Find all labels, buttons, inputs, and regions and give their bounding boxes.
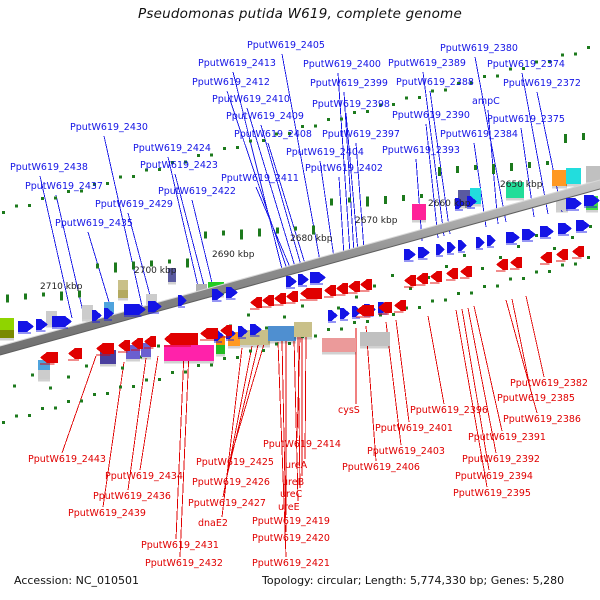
gene-feature-shadow bbox=[164, 345, 191, 347]
gene-feature-shadow bbox=[460, 277, 470, 279]
gene-feature-shadow bbox=[418, 258, 428, 260]
sequence-tick bbox=[121, 366, 124, 369]
boundary-dot bbox=[574, 53, 577, 56]
forward-gene-label[interactable]: PputW619_2374 bbox=[487, 60, 565, 70]
accession-text: Accession: NC_010501 bbox=[14, 574, 139, 587]
forward-gene-label[interactable]: PputW619_2411 bbox=[221, 174, 299, 184]
forward-gene-label[interactable]: PputW619_2430 bbox=[70, 123, 148, 133]
boundary-dot bbox=[483, 285, 486, 288]
reverse-gene-label[interactable]: PputW619_2434 bbox=[105, 472, 183, 482]
gene-feature[interactable] bbox=[68, 348, 82, 359]
gene-feature[interactable] bbox=[52, 316, 72, 327]
scale-tick-label: 2710 kbp bbox=[40, 282, 82, 292]
gene-feature-shadow bbox=[298, 285, 307, 287]
domain-box[interactable] bbox=[360, 332, 390, 346]
forward-gene-label[interactable]: PputW619_2397 bbox=[322, 130, 400, 140]
sequence-tick bbox=[222, 231, 225, 236]
gene-feature-shadow bbox=[250, 308, 260, 310]
boundary-dot bbox=[392, 313, 395, 316]
boundary-dot bbox=[574, 263, 577, 266]
gene-feature[interactable] bbox=[572, 246, 584, 257]
boundary-dot bbox=[119, 386, 122, 389]
boundary-dot bbox=[236, 146, 239, 149]
gene-feature-shadow bbox=[238, 337, 246, 339]
reverse-gene-label[interactable]: PputW619_2439 bbox=[68, 509, 146, 519]
forward-gene-label[interactable]: PputW619_2410 bbox=[212, 95, 290, 105]
sequence-tick bbox=[366, 197, 369, 207]
gene-feature-shadow bbox=[378, 313, 389, 315]
forward-gene-label[interactable]: PputW619_2393 bbox=[382, 146, 460, 156]
domain-box[interactable] bbox=[118, 290, 128, 298]
gene-feature[interactable] bbox=[556, 249, 568, 260]
sequence-tick bbox=[474, 165, 477, 170]
domain-box-shadow bbox=[118, 298, 128, 301]
gene-feature-shadow bbox=[226, 339, 234, 341]
leader-line bbox=[356, 143, 364, 250]
leader-line bbox=[522, 73, 548, 214]
gene-feature-shadow bbox=[124, 315, 142, 317]
sequence-tick bbox=[420, 194, 423, 198]
gene-feature[interactable] bbox=[446, 268, 458, 279]
reverse-gene-label[interactable]: ureB bbox=[282, 478, 304, 488]
boundary-dot bbox=[444, 299, 447, 302]
scale-tick-label: 2650 kbp bbox=[500, 180, 542, 190]
gene-feature-shadow bbox=[148, 312, 159, 314]
forward-gene-label[interactable]: PputW619_2422 bbox=[158, 187, 236, 197]
boundary-dot bbox=[2, 421, 5, 424]
gene-feature-shadow bbox=[446, 279, 456, 281]
forward-gene-label[interactable]: PputW619_2435 bbox=[55, 219, 133, 229]
gene-feature[interactable] bbox=[558, 223, 572, 234]
domain-box-shadow bbox=[228, 346, 240, 349]
reverse-gene-label[interactable]: PputW619_2426 bbox=[192, 478, 270, 488]
gene-feature-shadow bbox=[118, 351, 128, 353]
gene-feature-shadow bbox=[178, 306, 185, 308]
leader-line bbox=[339, 177, 344, 256]
reverse-gene-label[interactable]: PputW619_2392 bbox=[462, 455, 540, 465]
forward-gene-label[interactable]: PputW619_2405 bbox=[247, 41, 325, 51]
boundary-dot bbox=[314, 335, 317, 338]
gene-feature-shadow bbox=[572, 257, 582, 259]
gene-feature-shadow bbox=[68, 359, 79, 361]
boundary-dot bbox=[535, 270, 538, 273]
boundary-dot bbox=[158, 378, 161, 381]
domain-box-shadow bbox=[216, 354, 225, 357]
domain-box[interactable] bbox=[586, 166, 600, 182]
boundary-dot bbox=[366, 110, 369, 113]
sequence-tick bbox=[157, 345, 160, 348]
gene-feature[interactable] bbox=[540, 226, 554, 237]
domain-box-shadow bbox=[100, 364, 116, 367]
gene-feature-shadow bbox=[52, 327, 68, 329]
forward-gene-label[interactable]: PputW619_2398 bbox=[312, 100, 390, 110]
boundary-dot bbox=[132, 385, 135, 388]
gene-feature-shadow bbox=[40, 363, 54, 365]
gene-feature[interactable] bbox=[404, 249, 416, 260]
gene-feature-shadow bbox=[510, 268, 520, 270]
domain-box-shadow bbox=[240, 345, 270, 348]
footer-bar: Accession: NC_010501 Topology: circular;… bbox=[0, 572, 600, 600]
gene-feature[interactable] bbox=[476, 237, 485, 248]
gene-feature[interactable] bbox=[262, 295, 274, 306]
gene-feature[interactable] bbox=[496, 259, 508, 270]
reverse-gene-label[interactable]: PputW619_2425 bbox=[196, 458, 274, 468]
boundary-dot bbox=[236, 356, 239, 359]
reverse-gene-label[interactable]: PputW619_2443 bbox=[28, 455, 106, 465]
sequence-tick bbox=[13, 384, 16, 387]
reverse-gene-label[interactable]: PputW619_2414 bbox=[263, 440, 341, 450]
boundary-dot bbox=[366, 320, 369, 323]
forward-gene-label[interactable]: PputW619_2408 bbox=[234, 130, 312, 140]
boundary-dot bbox=[145, 378, 148, 381]
gene-feature[interactable] bbox=[522, 229, 536, 240]
gene-feature[interactable] bbox=[310, 272, 326, 283]
gene-feature-shadow bbox=[226, 298, 236, 300]
leader-line bbox=[256, 187, 292, 272]
gene-feature-shadow bbox=[556, 260, 566, 262]
gene-feature-shadow bbox=[96, 354, 110, 356]
gene-feature[interactable] bbox=[540, 252, 552, 263]
sequence-tick bbox=[24, 293, 27, 299]
boundary-dot bbox=[132, 175, 135, 178]
gene-feature[interactable] bbox=[328, 310, 338, 321]
forward-gene-label[interactable]: PputW619_2438 bbox=[10, 163, 88, 173]
boundary-dot bbox=[548, 270, 551, 273]
boundary-dot bbox=[210, 363, 213, 366]
sequence-tick bbox=[391, 274, 394, 277]
boundary-dot bbox=[353, 321, 356, 324]
domain-box[interactable] bbox=[164, 345, 214, 361]
gene-feature[interactable] bbox=[487, 235, 496, 246]
sequence-tick bbox=[85, 364, 88, 367]
gene-feature[interactable] bbox=[250, 297, 262, 308]
forward-gene-label[interactable]: PputW619_2400 bbox=[303, 60, 381, 70]
sequence-tick bbox=[186, 259, 189, 268]
reverse-gene-label[interactable]: PputW619_2385 bbox=[497, 394, 575, 404]
scale-tick-label: 2670 kbp bbox=[355, 216, 397, 226]
gene-feature-shadow bbox=[36, 330, 46, 332]
gene-feature[interactable] bbox=[96, 343, 114, 354]
sequence-tick bbox=[571, 236, 574, 239]
domain-box-shadow bbox=[412, 220, 426, 223]
sequence-tick bbox=[258, 229, 261, 237]
boundary-dot bbox=[496, 284, 499, 287]
boundary-dot bbox=[2, 211, 5, 214]
domain-box[interactable] bbox=[552, 170, 567, 186]
domain-box[interactable] bbox=[0, 330, 14, 338]
gene-feature[interactable] bbox=[324, 285, 336, 296]
sequence-tick bbox=[456, 166, 459, 173]
gene-feature[interactable] bbox=[458, 240, 467, 251]
gene-feature[interactable] bbox=[298, 274, 309, 285]
gene-feature[interactable] bbox=[460, 266, 472, 277]
forward-gene-label[interactable]: PputW619_2375 bbox=[487, 115, 565, 125]
boundary-dot bbox=[223, 147, 226, 150]
boundary-dot bbox=[327, 118, 330, 121]
gene-feature[interactable] bbox=[356, 305, 374, 316]
domain-box-shadow bbox=[322, 352, 356, 355]
reverse-gene-label[interactable]: PputW619_2391 bbox=[468, 433, 546, 443]
sequence-tick bbox=[168, 260, 171, 264]
domain-box-shadow bbox=[126, 359, 140, 362]
leader-line bbox=[526, 296, 544, 377]
boundary-dot bbox=[197, 154, 200, 157]
forward-gene-label[interactable]: PputW619_2412 bbox=[192, 78, 270, 88]
reverse-gene-label[interactable]: PputW619_2396 bbox=[410, 406, 488, 416]
gene-feature[interactable] bbox=[416, 273, 428, 284]
leader-line bbox=[462, 309, 489, 470]
forward-gene-label[interactable]: PputW619_2384 bbox=[440, 130, 518, 140]
gene-feature[interactable] bbox=[436, 244, 445, 255]
gene-feature-shadow bbox=[356, 316, 370, 318]
boundary-dot bbox=[106, 392, 109, 395]
domain-box[interactable] bbox=[0, 318, 14, 330]
gene-feature[interactable] bbox=[286, 291, 298, 302]
gene-feature-shadow bbox=[286, 302, 296, 304]
sequence-tick bbox=[348, 198, 351, 203]
gene-feature[interactable] bbox=[394, 300, 406, 311]
gene-feature-shadow bbox=[436, 255, 443, 257]
domain-box-shadow bbox=[294, 337, 312, 340]
sequence-tick bbox=[31, 373, 34, 376]
gene-feature[interactable] bbox=[340, 308, 350, 319]
reverse-gene-label[interactable]: PputW619_2419 bbox=[252, 517, 330, 527]
gene-feature-shadow bbox=[18, 332, 31, 334]
gene-feature[interactable] bbox=[566, 198, 582, 209]
leader-line bbox=[103, 362, 124, 507]
sequence-tick bbox=[355, 296, 358, 299]
forward-gene-label[interactable]: PputW619_2437 bbox=[25, 182, 103, 192]
reverse-gene-label[interactable]: ureC bbox=[280, 490, 302, 500]
gene-feature-shadow bbox=[104, 319, 112, 321]
sequence-tick bbox=[42, 292, 45, 296]
gene-feature[interactable] bbox=[510, 257, 522, 268]
gene-feature-shadow bbox=[540, 237, 551, 239]
reverse-gene-label[interactable]: PputW619_2394 bbox=[455, 472, 533, 482]
boundary-dot bbox=[249, 350, 252, 353]
gene-feature-shadow bbox=[404, 286, 414, 288]
sequence-tick bbox=[204, 232, 207, 239]
gene-feature[interactable] bbox=[164, 333, 198, 345]
gene-feature[interactable] bbox=[506, 232, 520, 243]
forward-gene-label[interactable]: PputW619_2402 bbox=[305, 164, 383, 174]
sequence-tick bbox=[265, 327, 268, 330]
gene-feature-shadow bbox=[558, 234, 569, 236]
sequence-tick bbox=[492, 164, 495, 174]
domain-box[interactable] bbox=[268, 326, 296, 341]
gene-feature-shadow bbox=[566, 209, 579, 211]
domain-box-shadow bbox=[38, 379, 50, 382]
domain-box-shadow bbox=[268, 341, 296, 344]
boundary-dot bbox=[418, 96, 421, 99]
gene-feature-shadow bbox=[506, 243, 517, 245]
gene-feature[interactable] bbox=[404, 275, 416, 286]
gene-feature[interactable] bbox=[18, 321, 34, 332]
scale-tick-label: 2690 kbp bbox=[212, 250, 254, 260]
domain-box-shadow bbox=[0, 338, 14, 341]
reverse-gene-label[interactable]: PputW619_2406 bbox=[342, 463, 420, 473]
sequence-tick bbox=[301, 305, 304, 308]
boundary-dot bbox=[67, 400, 70, 403]
boundary-dot bbox=[444, 89, 447, 92]
gene-feature-shadow bbox=[286, 287, 295, 289]
gene-feature-shadow bbox=[458, 251, 465, 253]
boundary-dot bbox=[249, 140, 252, 143]
boundary-dot bbox=[223, 357, 226, 360]
domain-box-shadow bbox=[164, 361, 214, 364]
gene-feature-shadow bbox=[584, 206, 597, 208]
leader-line bbox=[140, 356, 158, 470]
reverse-gene-label[interactable]: PputW619_2420 bbox=[252, 534, 330, 544]
forward-gene-label[interactable]: PputW619_2423 bbox=[140, 161, 218, 171]
gene-feature[interactable] bbox=[576, 220, 590, 231]
sequence-tick bbox=[463, 254, 466, 257]
boundary-dot bbox=[41, 197, 44, 200]
boundary-dot bbox=[28, 414, 31, 417]
gene-feature[interactable] bbox=[348, 281, 360, 292]
boundary-dot bbox=[54, 407, 57, 410]
reverse-gene-label[interactable]: PputW619_2427 bbox=[188, 499, 266, 509]
domain-box[interactable] bbox=[38, 370, 50, 379]
sequence-tick bbox=[6, 294, 9, 302]
domain-box[interactable] bbox=[322, 338, 356, 352]
domain-box-shadow bbox=[141, 357, 151, 360]
reverse-gene-label[interactable]: PputW619_2436 bbox=[93, 492, 171, 502]
leader-line bbox=[62, 356, 96, 453]
gene-feature-shadow bbox=[310, 283, 323, 285]
boundary-dot bbox=[54, 197, 57, 200]
domain-box[interactable] bbox=[216, 345, 225, 354]
gene-feature-shadow bbox=[340, 319, 348, 321]
sequence-tick bbox=[438, 167, 441, 176]
boundary-dot bbox=[171, 371, 174, 374]
sequence-tick bbox=[96, 263, 99, 268]
boundary-dot bbox=[119, 176, 122, 179]
leader-line bbox=[416, 159, 422, 241]
reverse-gene-label[interactable]: PputW619_2432 bbox=[145, 559, 223, 569]
gene-feature-shadow bbox=[576, 231, 587, 233]
sequence-tick bbox=[60, 291, 63, 300]
leader-line bbox=[176, 352, 184, 539]
reverse-gene-label[interactable]: ureA bbox=[285, 461, 307, 471]
forward-gene-label[interactable]: PputW619_2372 bbox=[503, 79, 581, 89]
boundary-dot bbox=[41, 407, 44, 410]
sequence-tick bbox=[373, 285, 376, 288]
sequence-tick bbox=[276, 228, 279, 234]
boundary-dot bbox=[353, 111, 356, 114]
sequence-tick bbox=[114, 262, 117, 272]
sequence-tick bbox=[528, 162, 531, 168]
forward-gene-label[interactable]: PputW619_2424 bbox=[133, 144, 211, 154]
scale-tick-label: 2680 kbp bbox=[290, 234, 332, 244]
boundary-dot bbox=[457, 292, 460, 295]
boundary-dot bbox=[431, 299, 434, 302]
domain-box[interactable] bbox=[412, 204, 426, 220]
domain-box-shadow bbox=[552, 186, 567, 189]
reverse-gene-label[interactable]: PputW619_2431 bbox=[141, 541, 219, 551]
gene-feature[interactable] bbox=[336, 283, 348, 294]
sequence-tick bbox=[337, 307, 340, 310]
boundary-dot bbox=[15, 204, 18, 207]
sequence-tick bbox=[240, 230, 243, 240]
gene-feature-shadow bbox=[212, 300, 222, 302]
boundary-dot bbox=[418, 306, 421, 309]
reverse-gene-label[interactable]: cysS bbox=[338, 406, 360, 416]
gene-feature-shadow bbox=[262, 306, 272, 308]
reverse-gene-label[interactable]: ureE bbox=[278, 503, 300, 513]
topology-text: Topology: circular; Length: 5,774,330 bp… bbox=[262, 574, 564, 587]
leader-line bbox=[192, 200, 214, 291]
gene-feature[interactable] bbox=[118, 340, 130, 351]
boundary-dot bbox=[405, 96, 408, 99]
forward-gene-label[interactable]: PputW619_2429 bbox=[95, 200, 173, 210]
gene-feature-shadow bbox=[328, 321, 336, 323]
reverse-gene-label[interactable]: PputW619_2386 bbox=[503, 415, 581, 425]
domain-box[interactable] bbox=[294, 322, 312, 337]
sequence-tick bbox=[445, 265, 448, 268]
forward-gene-label[interactable]: PputW619_2390 bbox=[392, 111, 470, 121]
gene-feature-shadow bbox=[394, 311, 404, 313]
sequence-tick bbox=[384, 196, 387, 204]
forward-gene-label[interactable]: PputW619_2388 bbox=[396, 78, 474, 88]
domain-box[interactable] bbox=[566, 168, 581, 184]
boundary-dot bbox=[470, 291, 473, 294]
gene-feature-shadow bbox=[92, 321, 100, 323]
gene-feature-shadow bbox=[324, 296, 334, 298]
boundary-dot bbox=[561, 263, 564, 266]
forward-gene-label[interactable]: PputW619_2413 bbox=[198, 59, 276, 69]
reverse-gene-label[interactable]: PputW619_2382 bbox=[510, 379, 588, 389]
boundary-dot bbox=[496, 74, 499, 77]
sequence-tick bbox=[564, 134, 567, 143]
gene-feature[interactable] bbox=[300, 288, 322, 299]
gene-feature[interactable] bbox=[360, 279, 372, 290]
gene-feature[interactable] bbox=[430, 271, 442, 282]
boundary-dot bbox=[184, 371, 187, 374]
gene-feature[interactable] bbox=[418, 247, 430, 258]
leader-line bbox=[268, 143, 306, 267]
forward-gene-label[interactable]: PputW619_2399 bbox=[310, 79, 388, 89]
boundary-dot bbox=[587, 256, 590, 259]
reverse-gene-label[interactable]: PputW619_2395 bbox=[453, 489, 531, 499]
gene-feature-shadow bbox=[476, 248, 483, 250]
domain-box-shadow bbox=[360, 346, 390, 349]
reverse-gene-label[interactable]: PputW619_2421 bbox=[252, 559, 330, 569]
gene-feature-shadow bbox=[200, 339, 214, 341]
leader-line bbox=[88, 232, 112, 312]
forward-gene-label[interactable]: PputW619_2404 bbox=[286, 148, 364, 158]
boundary-dot bbox=[340, 327, 343, 330]
boundary-dot bbox=[93, 393, 96, 396]
forward-gene-label[interactable]: ampC bbox=[472, 97, 500, 107]
reverse-gene-label[interactable]: dnaE2 bbox=[198, 519, 228, 529]
boundary-dot bbox=[522, 277, 525, 280]
sequence-tick bbox=[247, 314, 250, 317]
forward-gene-label[interactable]: PputW619_2409 bbox=[226, 112, 304, 122]
forward-gene-label[interactable]: PputW619_2389 bbox=[388, 59, 466, 69]
gene-feature[interactable] bbox=[286, 276, 297, 287]
gene-feature-shadow bbox=[430, 282, 440, 284]
gene-feature[interactable] bbox=[447, 242, 456, 253]
reverse-gene-label[interactable]: PputW619_2401 bbox=[375, 424, 453, 434]
gene-feature[interactable] bbox=[200, 328, 218, 339]
boundary-dot bbox=[80, 399, 83, 402]
gene-feature[interactable] bbox=[274, 293, 286, 304]
domain-box[interactable] bbox=[82, 305, 93, 319]
forward-gene-label[interactable]: PputW619_2380 bbox=[440, 44, 518, 54]
gene-feature-shadow bbox=[540, 263, 550, 265]
reverse-gene-label[interactable]: PputW619_2403 bbox=[367, 447, 445, 457]
